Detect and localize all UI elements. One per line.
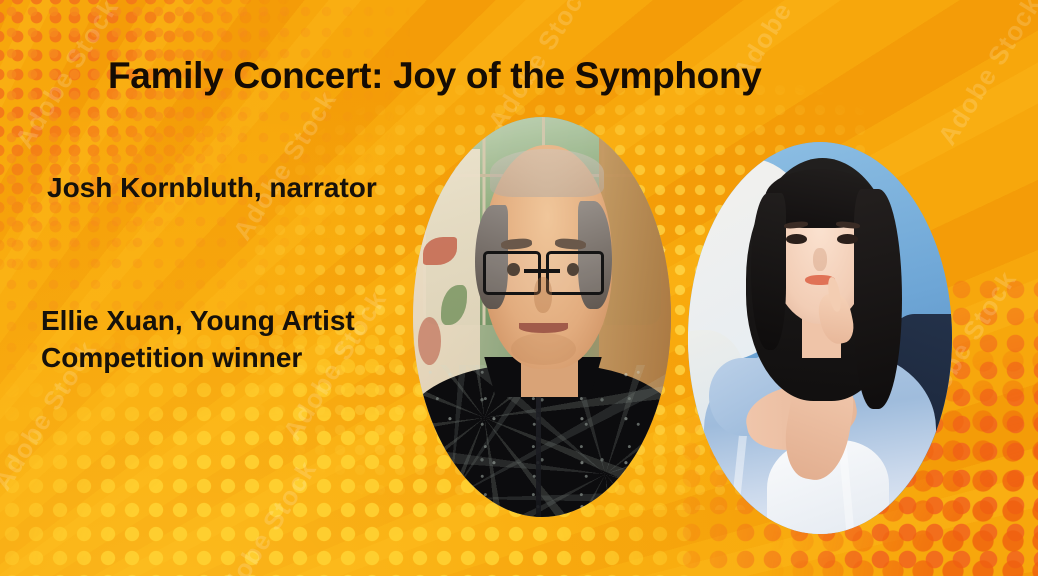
glasses-bridge [524,269,560,273]
hair-left [751,193,785,350]
poster-title: Family Concert: Joy of the Symphony [108,55,948,98]
chin [511,333,576,365]
nose [534,277,552,313]
concert-poster: Adobe Stock Adobe Stock Adobe Stock Adob… [0,0,1038,576]
hair-top [490,149,604,197]
hair-right [854,189,902,409]
lens-right [546,251,604,295]
portrait-scene [413,117,671,517]
ellie-xuan-portrait [688,142,952,534]
eye-right [837,234,858,244]
lens-left [483,251,541,295]
nose [813,248,826,272]
josh-kornbluth-portrait [413,117,671,517]
credit-josh-kornbluth: Josh Kornbluth, narrator [47,170,407,207]
eye-left [786,234,807,244]
credit-ellie-xuan: Ellie Xuan, Young Artist Competition win… [41,303,396,377]
